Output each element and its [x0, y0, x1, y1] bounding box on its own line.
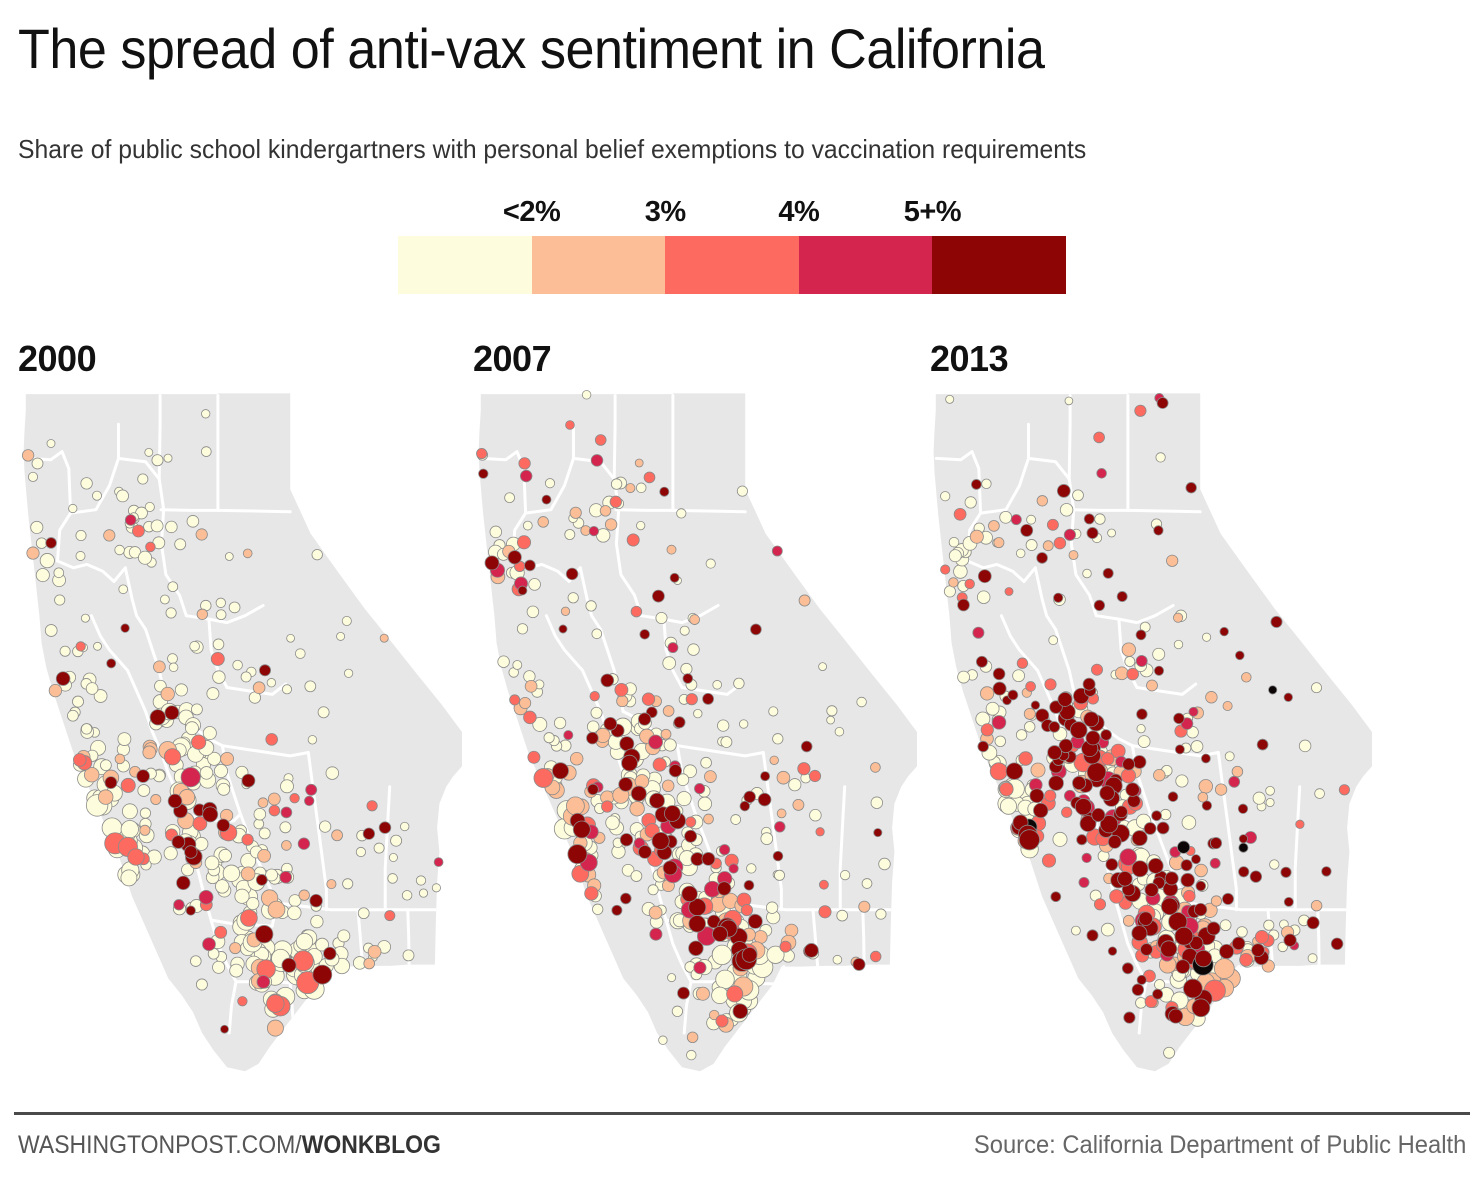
school-dot	[1138, 736, 1150, 748]
dot-map-2013	[910, 382, 1380, 1082]
school-dot	[620, 833, 632, 845]
school-dot	[166, 521, 178, 533]
school-dot	[777, 771, 790, 784]
school-dot	[1284, 934, 1296, 946]
school-dot	[1121, 769, 1135, 783]
school-dot	[27, 547, 39, 559]
school-dot	[199, 890, 213, 904]
school-dot	[819, 880, 828, 889]
school-dot	[1026, 539, 1037, 550]
school-dot	[338, 930, 350, 942]
school-dot	[949, 578, 958, 587]
school-dot	[117, 490, 129, 502]
school-dot	[993, 668, 1005, 680]
dot-map-2000	[0, 382, 470, 1082]
school-dot	[835, 727, 844, 736]
school-dot	[1092, 808, 1105, 821]
school-dot	[769, 707, 778, 716]
school-dot	[585, 887, 599, 901]
school-dot	[165, 706, 179, 720]
school-dot	[140, 825, 150, 835]
school-dot	[1082, 853, 1091, 862]
school-dot	[1132, 861, 1148, 877]
school-dot	[1084, 712, 1099, 727]
school-dot	[1229, 776, 1240, 787]
school-dot	[1238, 804, 1247, 813]
school-dot	[568, 845, 587, 864]
school-dot	[28, 472, 37, 481]
school-dot	[1157, 822, 1169, 834]
school-dot	[706, 559, 715, 568]
school-dot	[970, 530, 983, 543]
school-dot	[1339, 785, 1349, 795]
publisher-credit: WASHINGTONPOST.COM/WONKBLOG	[18, 1131, 441, 1160]
school-dot	[731, 815, 741, 825]
school-dot	[1141, 944, 1153, 956]
school-dot	[988, 520, 999, 531]
school-dot	[1016, 549, 1025, 558]
school-dot	[1136, 630, 1146, 640]
school-dot	[631, 786, 646, 801]
school-dot	[1241, 672, 1251, 682]
school-dot	[1154, 769, 1166, 781]
school-dot	[326, 767, 339, 780]
school-dot	[299, 890, 310, 901]
school-dot	[588, 784, 599, 795]
school-dot	[949, 550, 961, 562]
school-dot	[520, 470, 532, 482]
school-dot	[620, 893, 631, 904]
school-dot	[363, 828, 374, 839]
school-dot	[649, 906, 662, 919]
school-dot	[266, 995, 284, 1013]
school-dot	[175, 684, 187, 696]
school-dot	[343, 879, 353, 889]
school-dot	[648, 885, 658, 895]
school-dot	[667, 545, 676, 554]
school-dot	[799, 595, 810, 606]
school-dot	[606, 816, 620, 830]
school-dot	[1016, 730, 1027, 741]
school-dot	[1161, 941, 1177, 957]
school-dot	[1215, 784, 1226, 795]
school-dot	[190, 641, 200, 651]
school-dot	[1235, 651, 1244, 660]
school-dot	[1220, 627, 1229, 636]
school-dot	[221, 752, 234, 765]
school-dot	[243, 549, 252, 558]
school-dot	[1017, 658, 1027, 668]
school-dot	[1049, 636, 1058, 645]
school-dot	[196, 529, 207, 540]
school-dot	[196, 979, 207, 990]
school-dot	[55, 595, 65, 605]
school-dot	[694, 709, 703, 718]
school-dot	[1266, 786, 1275, 795]
school-dot	[175, 539, 186, 550]
school-dot	[677, 509, 686, 518]
school-dot	[1132, 984, 1144, 996]
school-dot	[223, 865, 240, 882]
school-dot	[1005, 587, 1013, 595]
school-dot	[1137, 724, 1145, 732]
school-dot	[1196, 881, 1206, 891]
school-dot	[685, 830, 697, 842]
school-dot	[259, 828, 270, 839]
school-dot	[1058, 692, 1072, 706]
school-dot	[54, 568, 64, 578]
school-dot	[150, 710, 165, 725]
school-dot	[761, 833, 773, 845]
school-dot	[1086, 731, 1100, 745]
legend-labels: <2%3%4%5+%	[398, 196, 1066, 234]
school-dot	[1064, 529, 1075, 540]
school-dot	[1269, 686, 1277, 694]
school-dot	[680, 626, 689, 635]
school-dot	[750, 624, 761, 635]
legend-swatch-2-3%	[532, 236, 666, 294]
school-dot	[1167, 555, 1178, 566]
school-dot	[1186, 482, 1197, 493]
school-dot	[46, 538, 57, 549]
school-dot	[660, 487, 669, 496]
school-dot	[819, 663, 827, 671]
school-dot	[694, 783, 704, 793]
school-dot	[870, 762, 880, 772]
school-dot	[819, 906, 831, 918]
school-dot	[403, 950, 414, 961]
school-dot	[1060, 503, 1073, 516]
school-dot	[1139, 912, 1153, 926]
school-dot	[661, 729, 671, 739]
school-dot	[213, 671, 226, 684]
school-dot	[1087, 527, 1098, 538]
school-dot	[958, 599, 970, 611]
school-dot	[1154, 666, 1163, 675]
school-dot	[612, 905, 622, 915]
school-dot	[636, 483, 646, 493]
school-dot	[669, 765, 681, 777]
school-dot	[1065, 397, 1073, 405]
school-dot	[1083, 678, 1095, 690]
school-dot	[636, 521, 644, 529]
school-dot	[510, 695, 520, 705]
school-dot	[332, 830, 343, 841]
school-dot	[318, 707, 329, 718]
school-dot	[1145, 883, 1158, 896]
school-dot	[1133, 756, 1146, 769]
school-dot	[994, 538, 1004, 548]
legend-label-3: 5+%	[904, 196, 961, 229]
legend-label-0: <2%	[503, 196, 560, 229]
school-dot	[211, 652, 224, 665]
school-dot	[1097, 468, 1107, 478]
school-dot	[269, 805, 280, 816]
school-dot	[986, 702, 999, 715]
school-dot	[93, 642, 101, 650]
school-dot	[663, 861, 677, 875]
credit-blog: WONKBLOG	[302, 1131, 441, 1159]
school-dot	[105, 777, 117, 789]
school-dot	[1037, 496, 1047, 506]
school-dot	[138, 785, 150, 797]
school-dot	[775, 822, 786, 833]
school-dot	[1183, 890, 1195, 902]
school-dot	[203, 938, 216, 951]
school-dot	[254, 819, 264, 829]
school-dot	[1199, 780, 1213, 794]
school-dot	[1194, 903, 1206, 915]
school-dot	[327, 879, 336, 888]
school-dot	[770, 756, 779, 765]
school-dot	[524, 711, 537, 724]
school-dot	[432, 884, 440, 892]
school-dot	[990, 763, 1007, 780]
school-dot	[1308, 954, 1317, 963]
school-dot	[358, 908, 369, 919]
school-dot	[1079, 877, 1089, 887]
school-dot	[98, 790, 113, 805]
school-dot	[1181, 873, 1195, 887]
school-dot	[810, 809, 822, 821]
school-dot	[719, 845, 729, 855]
school-dot	[1019, 830, 1039, 850]
school-dot	[1154, 526, 1163, 535]
school-dot	[941, 565, 950, 574]
school-dot	[280, 780, 293, 793]
school-dot	[513, 661, 522, 670]
school-dot	[1189, 707, 1198, 716]
school-dot	[1239, 843, 1248, 852]
school-dot	[681, 663, 692, 674]
school-dot	[1299, 740, 1311, 752]
school-dot	[1031, 763, 1045, 777]
school-dot	[161, 687, 174, 700]
school-dot	[201, 447, 211, 457]
school-dot	[191, 735, 205, 749]
school-dot	[570, 507, 581, 518]
school-dot	[992, 716, 1006, 730]
school-dot	[758, 793, 771, 806]
school-dot	[1271, 616, 1282, 627]
school-dot	[312, 549, 322, 559]
school-dot	[288, 906, 302, 920]
school-dot	[879, 858, 891, 870]
school-dot	[367, 801, 377, 811]
school-dot	[552, 763, 568, 779]
school-dot	[652, 832, 669, 849]
school-dot	[242, 774, 255, 787]
school-dot	[257, 975, 270, 988]
school-dot	[253, 682, 265, 694]
school-dot	[319, 821, 330, 832]
school-dot	[1095, 514, 1106, 525]
school-dot	[207, 688, 219, 700]
school-dot	[1071, 926, 1080, 935]
panel-year-label: 2007	[473, 338, 551, 380]
school-dot	[56, 672, 70, 686]
school-dot	[138, 551, 151, 564]
school-dot	[1210, 837, 1221, 848]
school-dot	[187, 515, 199, 527]
school-dot	[689, 915, 706, 932]
school-dot	[1116, 806, 1128, 818]
school-dot	[1311, 900, 1322, 911]
school-dot	[712, 945, 732, 965]
school-dot	[160, 595, 169, 604]
school-dot	[1195, 864, 1208, 877]
school-dot	[677, 792, 691, 806]
school-dot	[280, 871, 292, 883]
school-dot	[1000, 783, 1014, 797]
school-dot	[190, 956, 201, 967]
school-dot	[958, 671, 970, 683]
school-dot	[1072, 776, 1085, 789]
map-panel-2013: 2013	[910, 330, 1380, 1090]
school-dot	[1094, 899, 1105, 910]
school-dot	[713, 680, 722, 689]
school-dot	[1103, 568, 1113, 578]
school-dot	[523, 521, 532, 530]
school-dot	[49, 684, 62, 697]
school-dot	[595, 435, 606, 446]
school-dot	[505, 493, 515, 503]
school-dot	[47, 439, 55, 447]
school-dot	[137, 770, 150, 783]
school-dot	[561, 607, 569, 615]
school-dot	[761, 772, 770, 781]
school-dot	[1174, 640, 1183, 649]
school-dot	[1232, 937, 1245, 950]
school-dot	[1255, 930, 1268, 943]
school-dot	[1239, 867, 1249, 877]
school-dot	[1031, 701, 1039, 709]
school-dot	[268, 901, 285, 918]
school-dot	[965, 497, 976, 508]
school-dot	[635, 459, 643, 467]
school-dot	[230, 942, 241, 953]
school-dot	[566, 568, 578, 580]
school-dot	[704, 814, 714, 824]
school-dot	[656, 612, 667, 623]
school-dot	[1027, 515, 1036, 524]
school-dot	[164, 454, 172, 462]
school-dot	[295, 649, 305, 659]
school-dot	[589, 526, 598, 535]
school-dot	[644, 472, 655, 483]
legend: <2%3%4%5+%	[398, 196, 1066, 300]
school-dot	[717, 882, 730, 895]
school-dot	[416, 876, 425, 885]
school-dot	[1169, 1009, 1183, 1023]
school-dot	[1126, 783, 1140, 797]
school-dot	[45, 625, 57, 637]
school-dot	[115, 754, 125, 764]
school-dot	[1048, 746, 1062, 760]
school-dot	[1176, 775, 1188, 787]
school-dot	[1161, 898, 1178, 915]
school-dot	[742, 947, 757, 962]
page-subtitle: Share of public school kindergartners wi…	[18, 133, 1396, 165]
school-dot	[1211, 896, 1221, 906]
school-dot	[610, 496, 621, 507]
school-dot	[1147, 680, 1158, 691]
school-dot	[364, 958, 375, 969]
school-dot	[734, 678, 745, 689]
school-dot	[642, 693, 654, 705]
school-dot	[668, 643, 678, 653]
school-dot	[1284, 693, 1292, 701]
school-dot	[115, 545, 125, 555]
school-dot	[81, 724, 92, 735]
school-dot	[1019, 752, 1033, 766]
school-dot	[92, 491, 101, 500]
school-dot	[1123, 915, 1134, 926]
school-dot	[36, 538, 47, 549]
school-dot	[1331, 938, 1343, 950]
school-dot	[683, 674, 693, 684]
school-dot	[1202, 801, 1211, 810]
school-dot	[154, 661, 166, 673]
school-dot	[1054, 537, 1066, 549]
school-dot	[809, 770, 820, 781]
school-dot	[122, 804, 137, 819]
school-dot	[280, 822, 291, 833]
school-dot	[169, 663, 178, 672]
school-dot	[804, 943, 818, 957]
school-dot	[419, 889, 427, 897]
school-dot	[1270, 860, 1279, 869]
school-dot	[717, 720, 728, 731]
school-dot	[235, 889, 249, 903]
school-dot	[600, 506, 611, 517]
school-dot	[853, 958, 865, 970]
school-dot	[538, 517, 549, 528]
school-dot	[716, 970, 735, 989]
school-dot	[664, 739, 676, 751]
school-dot	[304, 796, 314, 806]
school-dot	[678, 987, 690, 999]
school-dot	[1045, 679, 1056, 690]
school-dot	[1047, 519, 1058, 530]
school-dot	[982, 479, 992, 489]
school-dot	[1100, 786, 1115, 801]
school-dot	[1144, 823, 1156, 835]
school-dot	[177, 876, 191, 890]
school-dot	[216, 610, 226, 620]
school-dot	[72, 696, 83, 707]
school-dot	[151, 520, 163, 532]
school-dot	[1053, 832, 1067, 846]
school-dot	[298, 838, 310, 850]
school-dot	[485, 556, 499, 570]
school-dot	[225, 553, 233, 561]
school-dot	[164, 847, 177, 860]
school-dot	[1070, 722, 1087, 739]
school-dot	[1030, 789, 1044, 803]
school-dot	[862, 879, 872, 889]
school-dot	[311, 915, 323, 927]
school-dot	[213, 961, 225, 973]
school-dot	[185, 846, 198, 859]
school-dot	[586, 601, 596, 611]
school-dot	[592, 629, 602, 639]
school-dot	[145, 448, 153, 456]
school-dot	[181, 768, 200, 787]
school-dot	[650, 928, 662, 940]
school-dot	[1037, 553, 1048, 564]
school-dot	[674, 717, 685, 728]
